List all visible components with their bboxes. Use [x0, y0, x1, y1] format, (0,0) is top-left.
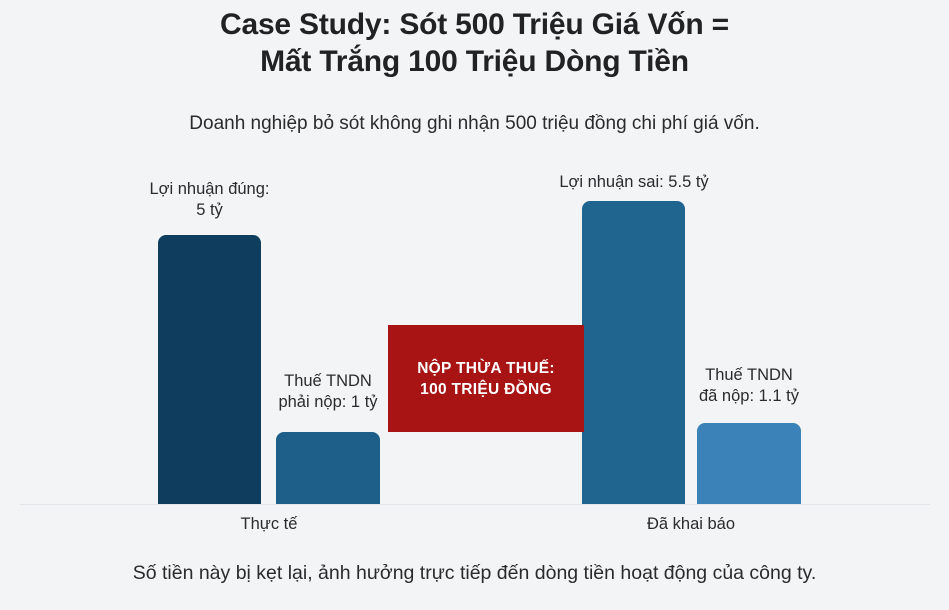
page-title: Case Study: Sót 500 Triệu Giá Vốn = Mất …	[0, 6, 949, 80]
bar-label-tax-due-line1: Thuế TNDN	[258, 371, 398, 392]
bar-label-tax-due-line2: phải nộp: 1 tỷ	[258, 392, 398, 413]
bar-label-tax-paid: Thuế TNDN đã nộp: 1.1 tỷ	[679, 365, 819, 407]
infographic-chart: Case Study: Sót 500 Triệu Giá Vốn = Mất …	[0, 0, 949, 610]
bar-tax-paid	[697, 423, 801, 504]
page-subtitle: Doanh nghiệp bỏ sót không ghi nhận 500 t…	[0, 113, 949, 135]
bar-profit-wrong	[582, 201, 685, 504]
category-label-actual: Thực tế	[169, 515, 369, 534]
bar-profit-correct	[158, 235, 261, 504]
overpaid-tax-callout-line1: NỘP THỪA THUẾ:	[417, 358, 555, 379]
bar-label-profit-wrong: Lợi nhuận sai: 5.5 tỷ	[520, 172, 748, 193]
overpaid-tax-callout: NỘP THỪA THUẾ: 100 TRIỆU ĐỒNG	[388, 325, 584, 432]
chart-plot-area: Lợi nhuận đúng: 5 tỷ Thuế TNDN phải nộp:…	[0, 150, 949, 510]
bar-tax-due	[276, 432, 380, 504]
bar-label-tax-due: Thuế TNDN phải nộp: 1 tỷ	[258, 371, 398, 413]
bar-label-profit-correct-line1: Lợi nhuận đúng:	[118, 179, 301, 200]
bar-label-profit-correct: Lợi nhuận đúng: 5 tỷ	[118, 179, 301, 221]
overpaid-tax-callout-line2: 100 TRIỆU ĐỒNG	[420, 379, 552, 400]
footer-note: Số tiền này bị kẹt lại, ảnh hưởng trực t…	[0, 562, 949, 585]
category-label-declared: Đã khai báo	[591, 515, 791, 534]
title-line-1: Case Study: Sót 500 Triệu Giá Vốn =	[0, 6, 949, 43]
bar-label-tax-paid-line1: Thuế TNDN	[679, 365, 819, 386]
bar-label-tax-paid-line2: đã nộp: 1.1 tỷ	[679, 386, 819, 407]
chart-baseline	[20, 504, 930, 505]
title-line-2: Mất Trắng 100 Triệu Dòng Tiền	[0, 43, 949, 80]
bar-label-profit-correct-line2: 5 tỷ	[118, 200, 301, 221]
bar-label-profit-wrong-line1: Lợi nhuận sai: 5.5 tỷ	[520, 172, 748, 193]
